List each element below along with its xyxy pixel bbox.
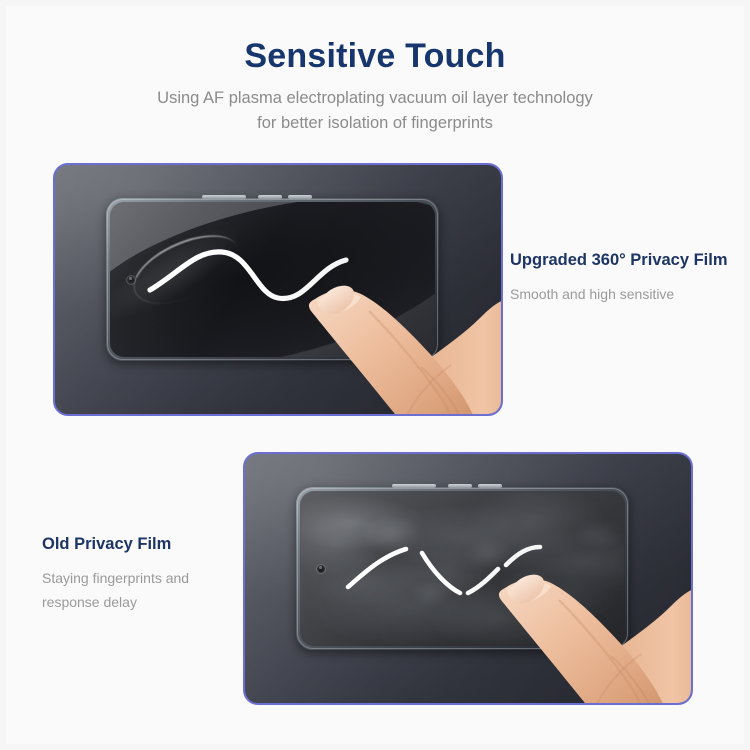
power-button-nub xyxy=(448,484,472,488)
volume-button-nub xyxy=(202,195,246,199)
phone-old xyxy=(296,487,629,650)
punch-hole-camera-icon xyxy=(317,565,325,573)
page-subtitle: Using AF plasma electroplating vacuum oi… xyxy=(0,86,750,136)
callout-old-subtitle-line-2: response delay xyxy=(42,590,242,614)
panel-upgraded-film xyxy=(53,163,503,416)
callout-old-film: Old Privacy Film Staying fingerprints an… xyxy=(42,533,242,614)
punch-hole-camera-icon xyxy=(127,276,135,284)
fingerprint-smudge-layer-secondary xyxy=(300,491,625,646)
page-title: Sensitive Touch xyxy=(0,34,750,78)
phone-screen-clean xyxy=(110,202,435,357)
callout-old-subtitle: Staying fingerprints and response delay xyxy=(42,566,242,614)
callout-upgraded-title: Upgraded 360° Privacy Film xyxy=(510,249,735,271)
volume-button-nub xyxy=(392,484,436,488)
callout-old-subtitle-line-1: Staying fingerprints and xyxy=(42,566,242,590)
callout-upgraded-film: Upgraded 360° Privacy Film Smooth and hi… xyxy=(510,249,735,306)
panel-old-film xyxy=(243,452,693,705)
callout-old-title: Old Privacy Film xyxy=(42,533,242,555)
power-button-nub xyxy=(258,195,282,199)
page-header: Sensitive Touch Using AF plasma electrop… xyxy=(0,34,750,136)
callout-upgraded-subtitle: Smooth and high sensitive xyxy=(510,282,735,306)
secondary-button-nub xyxy=(288,195,312,199)
page-subtitle-line-1: Using AF plasma electroplating vacuum oi… xyxy=(0,86,750,111)
promo-page: Sensitive Touch Using AF plasma electrop… xyxy=(0,0,750,750)
phone-screen-smudged xyxy=(300,491,625,646)
secondary-button-nub xyxy=(478,484,502,488)
phone-upgraded xyxy=(106,198,439,361)
page-subtitle-line-2: for better isolation of fingerprints xyxy=(0,111,750,136)
